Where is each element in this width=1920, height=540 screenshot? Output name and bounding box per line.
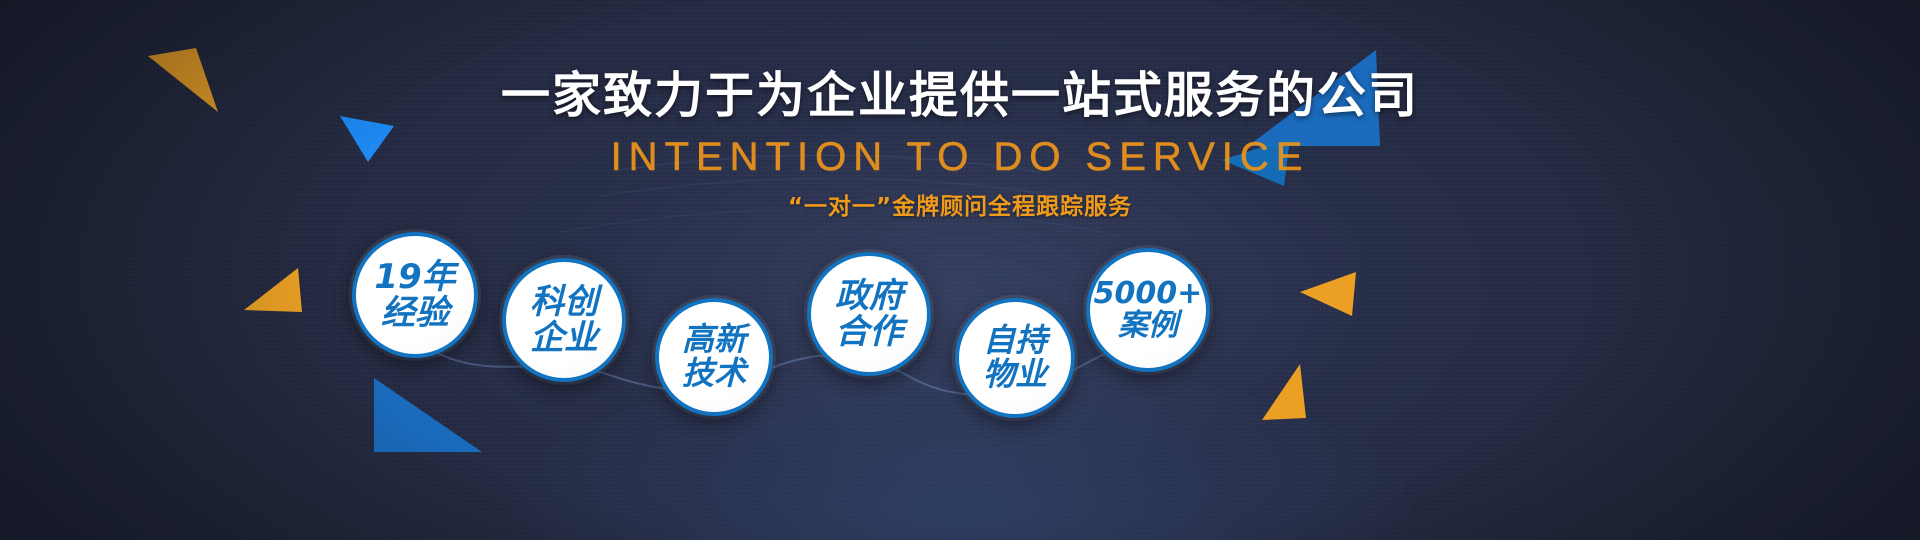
badge-line1: 5000+ [1094, 278, 1203, 310]
badge-5[interactable]: 自持物业 [955, 298, 1075, 418]
badge-line2: 技术 [682, 357, 746, 391]
badge-line2: 经验 [381, 295, 449, 331]
badge-line1: 自持 [983, 324, 1047, 358]
page-title: 一家致力于为企业提供一站式服务的公司 [0, 68, 1920, 124]
badge-line2: 物业 [983, 358, 1047, 392]
subtitle-english: INTENTION TO DO SERVICE [0, 134, 1920, 180]
badge-line1: 高新 [682, 323, 746, 357]
badge-line2: 合作 [835, 314, 903, 350]
badge-3[interactable]: 高新技术 [655, 298, 773, 416]
badge-6[interactable]: 5000+案例 [1086, 248, 1210, 372]
background-glow [510, 360, 1410, 540]
triangle-orange-right-icon [1300, 272, 1356, 316]
badge-line2: 企业 [530, 320, 598, 356]
badge-1[interactable]: 19年经验 [352, 232, 478, 358]
badge-line2: 案例 [1118, 310, 1178, 342]
badge-4[interactable]: 政府合作 [807, 252, 931, 376]
badge-2[interactable]: 科创企业 [502, 258, 626, 382]
triangle-orange-bottomright-icon [1262, 364, 1306, 420]
badge-line1: 科创 [530, 284, 598, 320]
triangle-blue-bottomleft-icon [374, 378, 482, 452]
badge-line1: 政府 [835, 278, 903, 314]
hero-banner: 一家致力于为企业提供一站式服务的公司 INTENTION TO DO SERVI… [0, 0, 1920, 540]
subtitle-chinese: “一对一”金牌顾问全程跟踪服务 [0, 192, 1920, 222]
triangle-orange-midleft-icon [244, 268, 302, 312]
badge-line1: 19年 [374, 259, 455, 295]
headline-block: 一家致力于为企业提供一站式服务的公司 INTENTION TO DO SERVI… [0, 0, 1920, 222]
